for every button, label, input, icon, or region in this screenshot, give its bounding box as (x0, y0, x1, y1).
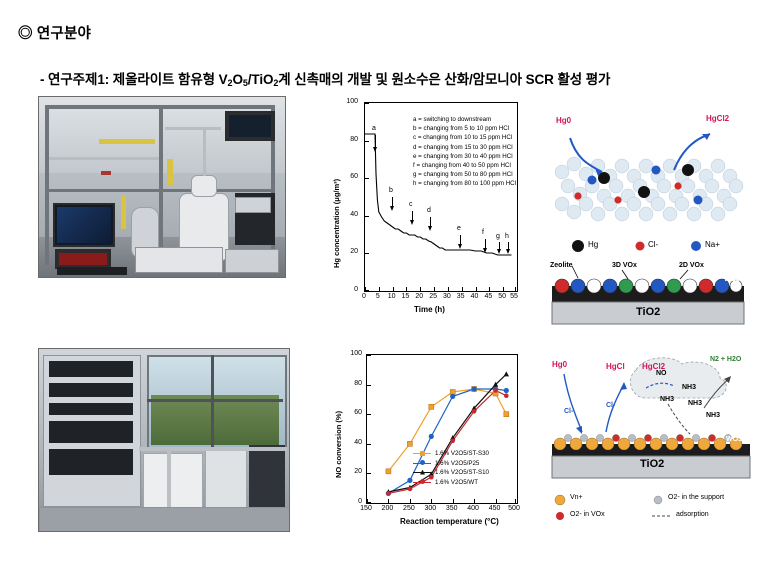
sch3-hgcl-label: HgCl (606, 362, 625, 371)
c1-series-line (365, 103, 517, 291)
sch2-wo3-label: WO3 (724, 276, 740, 283)
sch3-legend-o-vox: O2- in VOx (570, 511, 605, 518)
c1-x-axis-title: Time (h) (414, 305, 445, 314)
c1-annot-d: d (427, 207, 431, 214)
sch3-legend-o-support: O2- in the support (668, 494, 724, 501)
c2-legend-label-1: 1.6% V2O5/P25 (435, 460, 479, 467)
slide: ◎ 연구분야 - 연구주제1: 제올라이트 함유형 V2O5/TiO2계 신촉매… (0, 0, 768, 576)
sch1-legend-na: Na+ (705, 240, 720, 249)
c2-legend-item-1: 1.6% V2O5/P25 (413, 459, 489, 469)
c2-legend-label-0: 1.6% V2O5/ST-S30 (435, 450, 489, 457)
topic-title-part2: O (232, 72, 242, 87)
sch1-hg0-text: Hg0 (556, 116, 571, 125)
sch3-wo3-label: WO3 (726, 436, 742, 443)
sch3-hg0-label: Hg0 (552, 360, 567, 369)
sch1-hg0-label: Hg0 (556, 116, 571, 125)
c1-ytick-80: 80 (336, 136, 358, 143)
c2-ytick-0: 0 (338, 498, 362, 505)
c1-annot-h: h (505, 233, 509, 240)
topic-sub-2: 5 (243, 78, 248, 88)
catalyst-layer-diagram: Zeolite 3D VOx 2D VOx WO3 TiO2 (548, 262, 748, 332)
topic-title: - 연구주제1: 제올라이트 함유형 V2O5/TiO2계 신촉매의 개발 및 … (40, 68, 610, 88)
c2-xtick-300: 300 (422, 505, 438, 512)
c2-xtick-400: 400 (465, 505, 481, 512)
c2-xtick-250: 250 (401, 505, 417, 512)
hg-oxidation-on-zeolite: Hg0 HgCl2 Hg Cl- Na+ (548, 100, 748, 260)
sch3-cl-left-label: Cl- (564, 408, 573, 415)
c2-xtick-500: 500 (506, 505, 522, 512)
sch3-nh3-3-label: NH3 (688, 400, 702, 407)
sch3-products-label: N2 + H2O (710, 356, 741, 363)
c2-xtick-350: 350 (444, 505, 460, 512)
c2-legend-label-2: 1.6% V2O5/ST-S10 (435, 469, 489, 476)
topic-title-part3: /TiO (248, 72, 274, 87)
sch1-hgcl2-text: HgCl2 (706, 114, 729, 123)
c2-legend-label-3: 1.6% V2O5/WT (435, 479, 478, 486)
sch2-zeolite-label: Zeolite (550, 262, 573, 269)
topic-title-part1: - 연구주제1: 제올라이트 함유형 V (40, 72, 228, 87)
c1-annot-c: c (409, 201, 413, 208)
c2-legend-item-2: 1.6% V2O5/ST-S10 (413, 468, 489, 478)
c1-ytick-0: 0 (336, 286, 358, 293)
c2-legend-item-3: 1.6% V2O5/WT (413, 478, 489, 488)
c2-legend: 1.6% V2O5/ST-S30 1.6% V2O5/P25 1.6% V2O5… (413, 449, 489, 487)
lab-bench-photo (38, 348, 290, 532)
c1-xtick-55: 55 (506, 293, 522, 300)
c1-annot-b: b (389, 187, 393, 194)
c2-xtick-150: 150 (358, 505, 374, 512)
c2-x-axis-title: Reaction temperature (°C) (400, 517, 499, 526)
c2-ytick-100: 100 (338, 350, 362, 357)
topic-sub-3: 2 (273, 78, 278, 88)
c1-ytick-100: 100 (336, 98, 358, 105)
topic-title-part4: 계 신촉매의 개발 및 원소수은 산화/암모니아 SCR 활성 평가 (278, 72, 610, 87)
sch3-nh3-1-label: NH3 (682, 384, 696, 391)
c2-ytick-80: 80 (338, 380, 362, 387)
sch3-nh3-2-label: NH3 (660, 396, 674, 403)
sch3-tio2-label: TiO2 (640, 458, 664, 470)
c2-xtick-200: 200 (379, 505, 395, 512)
hg-concentration-chart: 0 20 40 60 80 100 Hg concentration (μg/m… (322, 96, 530, 318)
sch3-cl-mid-label: Cl- (606, 402, 615, 409)
c1-annot-f: f (482, 229, 484, 236)
scr-mechanism-diagram: Hg0 HgCl HgCl2 Cl- Cl- NO NH3 NH3 NH3 NH… (548, 348, 754, 533)
sch1-hgcl2-label: HgCl2 (706, 114, 729, 123)
c2-y-axis-title: NO conversion (%) (334, 411, 343, 478)
lab-reactor-photo (38, 96, 286, 278)
c2-plot-area: 1.6% V2O5/ST-S30 1.6% V2O5/P25 1.6% V2O5… (366, 354, 518, 504)
sch2-2dvox-label: 2D VOx (679, 262, 704, 269)
sch3-legend-adsorption: adsorption (676, 511, 709, 518)
sch2-3dvox-label: 3D VOx (612, 262, 637, 269)
topic-sub-1: 2 (228, 78, 233, 88)
c1-plot-area: a = switching to downstream b = changing… (364, 102, 518, 292)
page-title: ◎ 연구분야 (18, 22, 91, 43)
sch3-legend-v: Vn+ (570, 494, 583, 501)
sch1-legend-cl: Cl- (648, 240, 658, 249)
sch3-no-label: NO (656, 370, 667, 377)
sch3-nh3-4-label: NH3 (706, 412, 720, 419)
c1-y-axis-title: Hg concentration (μg/m³) (332, 179, 341, 268)
c1-annot-g: g (496, 233, 500, 240)
c2-legend-item-0: 1.6% V2O5/ST-S30 (413, 449, 489, 459)
c1-annot-e: e (457, 225, 461, 232)
no-conversion-chart: 0 20 40 60 80 100 NO conversion (%) (322, 348, 534, 548)
c2-xtick-450: 450 (487, 505, 503, 512)
sch1-legend-hg: Hg (588, 240, 598, 249)
sch2-tio2-label: TiO2 (636, 306, 660, 318)
c1-annot-a: a (372, 125, 376, 132)
